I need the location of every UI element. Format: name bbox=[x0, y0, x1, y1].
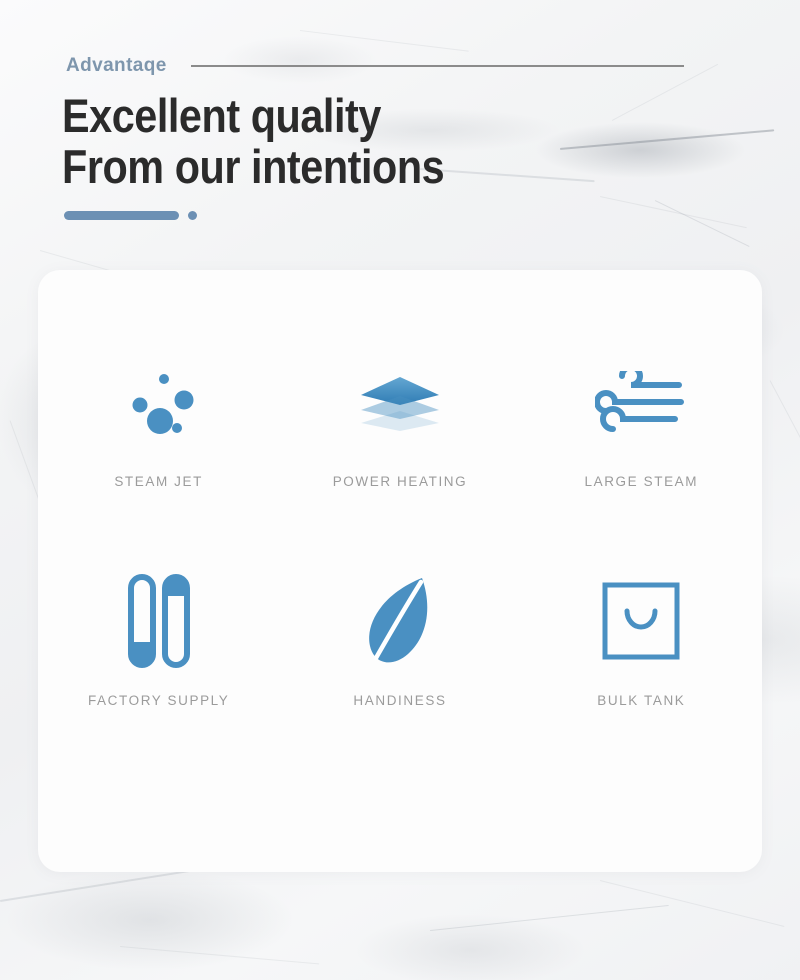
accent-bar bbox=[64, 211, 179, 220]
headline-line-2: From our intentions bbox=[62, 141, 444, 192]
steam-dots-icon bbox=[122, 348, 196, 456]
marble-vein bbox=[10, 420, 42, 505]
eyebrow-row: Advantaqe bbox=[66, 55, 736, 77]
accent-underline bbox=[64, 211, 197, 220]
twin-capsules-icon bbox=[128, 567, 190, 675]
headline-line-1: Excellent quality bbox=[62, 89, 381, 142]
page-title: Excellent quality From our intentions bbox=[62, 90, 444, 192]
advantage-section: Advantaqe Excellent quality From our int… bbox=[0, 0, 800, 980]
feature-item-handiness[interactable]: HANDINESS bbox=[279, 567, 520, 708]
wind-lines-icon bbox=[595, 348, 687, 456]
marble-vein bbox=[420, 168, 595, 182]
tank-square-icon bbox=[601, 567, 681, 675]
feature-label: HANDINESS bbox=[353, 693, 446, 708]
feature-item-large-steam[interactable]: LARGE STEAM bbox=[521, 348, 762, 489]
feature-label: POWER HEATING bbox=[333, 474, 468, 489]
features-card: STEAM JET bbox=[38, 270, 762, 872]
feature-item-power-heating[interactable]: POWER HEATING bbox=[279, 348, 520, 489]
marble-vein bbox=[300, 30, 469, 52]
leaf-icon bbox=[362, 567, 438, 675]
marble-vein bbox=[770, 380, 800, 486]
feature-item-factory-supply[interactable]: FACTORY SUPPLY bbox=[38, 567, 279, 708]
eyebrow-divider bbox=[191, 65, 684, 67]
features-grid: STEAM JET bbox=[38, 348, 762, 708]
marble-vein bbox=[0, 867, 208, 902]
marble-vein bbox=[560, 129, 774, 150]
marble-vein bbox=[600, 196, 747, 228]
feature-label: STEAM JET bbox=[114, 474, 203, 489]
marble-vein bbox=[655, 200, 750, 247]
feature-label: BULK TANK bbox=[597, 693, 685, 708]
stacked-layers-icon bbox=[355, 348, 445, 456]
feature-item-bulk-tank[interactable]: BULK TANK bbox=[521, 567, 762, 708]
marble-vein bbox=[430, 905, 669, 931]
feature-label: LARGE STEAM bbox=[585, 474, 699, 489]
feature-item-steam-jet[interactable]: STEAM JET bbox=[38, 348, 279, 489]
accent-dot bbox=[188, 211, 197, 220]
feature-label: FACTORY SUPPLY bbox=[88, 693, 229, 708]
eyebrow-label: Advantaqe bbox=[66, 55, 167, 77]
marble-vein bbox=[600, 880, 785, 927]
marble-vein bbox=[120, 946, 319, 964]
